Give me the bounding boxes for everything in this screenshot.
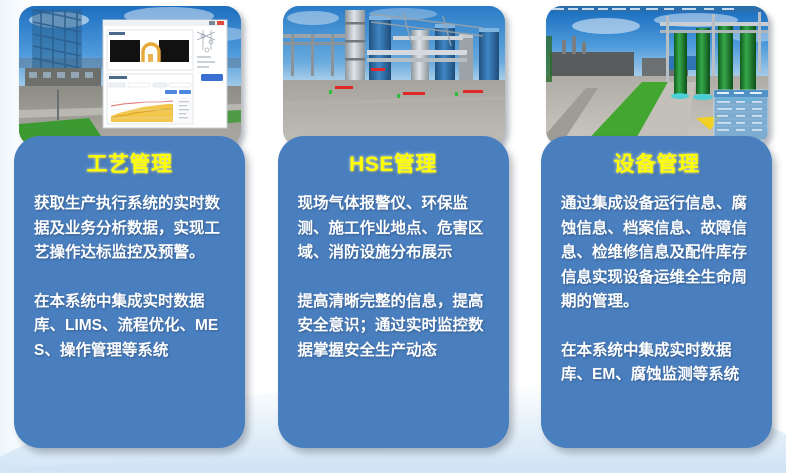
plant-3d-tank-farm-image — [283, 6, 505, 146]
thumbnail-process-management[interactable] — [19, 6, 241, 146]
thumbnail-hse-management[interactable] — [283, 6, 505, 146]
card-hse-management[interactable]: HSE管理 现场气体报警仪、环保监测、施工作业地点、危害区域、消防设施分布展示 … — [270, 0, 517, 473]
dashboard-window — [103, 20, 227, 128]
card-paragraph: 在本系统中集成实时数据库、EM、腐蚀监测等系统 — [561, 339, 753, 388]
card-paragraph: 通过集成设备运行信息、腐蚀信息、档案信息、故障信息、检维修信息及配件库存信息实现… — [561, 192, 753, 315]
data-table-panel — [714, 90, 768, 140]
card-text-hse-management: 现场气体报警仪、环保监测、施工作业地点、危害区域、消防设施分布展示 提高清晰完整… — [298, 192, 490, 363]
card-paragraph: 现场气体报警仪、环保监测、施工作业地点、危害区域、消防设施分布展示 — [298, 192, 490, 266]
card-title-process-management: 工艺管理 — [14, 148, 245, 178]
card-title-hse-management: HSE管理 — [278, 148, 509, 178]
card-paragraph: 提高清晰完整的信息，提高安全意识；通过实时监控数据掌握安全生产动态 — [298, 290, 490, 364]
card-paragraph: 在本系统中集成实时数据库、LIMS、流程优化、MES、操作管理等系统 — [34, 290, 226, 364]
thumbnail-equipment-management[interactable] — [546, 6, 768, 146]
card-text-process-management: 获取生产执行系统的实时数据及业务分析数据，实现工艺操作达标监控及预警。 在本系统… — [34, 192, 226, 363]
card-deck: 工艺管理 获取生产执行系统的实时数据及业务分析数据，实现工艺操作达标监控及预警。… — [0, 0, 786, 473]
card-process-management[interactable]: 工艺管理 获取生产执行系统的实时数据及业务分析数据，实现工艺操作达标监控及预警。… — [6, 0, 253, 473]
card-equipment-management[interactable]: 设备管理 通过集成设备运行信息、腐蚀信息、档案信息、故障信息、检维修信息及配件库… — [533, 0, 780, 473]
card-title-equipment-management: 设备管理 — [541, 148, 772, 178]
card-paragraph: 获取生产执行系统的实时数据及业务分析数据，实现工艺操作达标监控及预警。 — [34, 192, 226, 266]
card-text-equipment-management: 通过集成设备运行信息、腐蚀信息、档案信息、故障信息、检维修信息及配件库存信息实现… — [561, 192, 753, 388]
plant-3d-with-dashboard-overlay-image — [19, 6, 241, 146]
plant-3d-green-columns-image — [546, 6, 768, 146]
